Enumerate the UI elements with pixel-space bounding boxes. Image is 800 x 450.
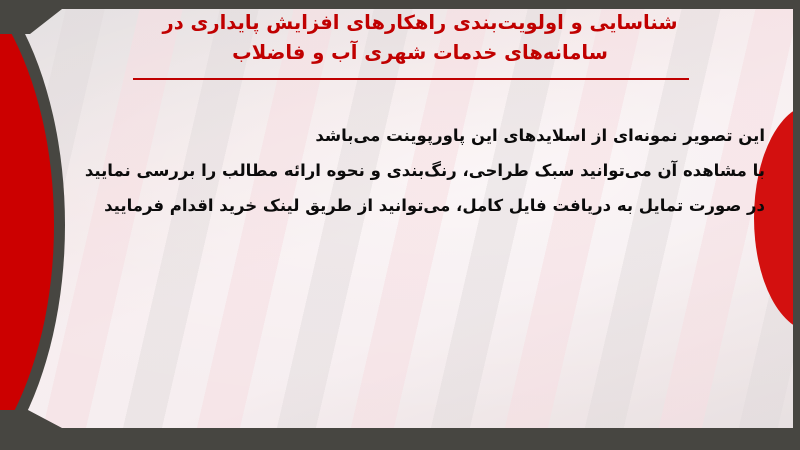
slide-title-line-2: سامانه‌های خدمات شهری آب و فاضلاب [70,38,770,68]
frame-edge-right [793,0,800,450]
slide-body-line-3: در صورت تمایل به دریافت فایل کامل، می‌تو… [65,188,765,223]
slide-body-line-2: با مشاهده آن می‌توانید سبک طراحی، رنگ‌بن… [65,153,765,188]
slide-canvas: شناسایی و اولویت‌بندی راهکارهای افزایش پ… [0,0,800,450]
slide-body-line-1: این تصویر نمونه‌ای از اسلایدهای این پاور… [65,118,765,153]
title-underline [133,78,689,80]
slide-title: شناسایی و اولویت‌بندی راهکارهای افزایش پ… [70,8,770,68]
slide-body: این تصویر نمونه‌ای از اسلایدهای این پاور… [65,118,765,223]
slide-title-line-1: شناسایی و اولویت‌بندی راهکارهای افزایش پ… [70,8,770,38]
